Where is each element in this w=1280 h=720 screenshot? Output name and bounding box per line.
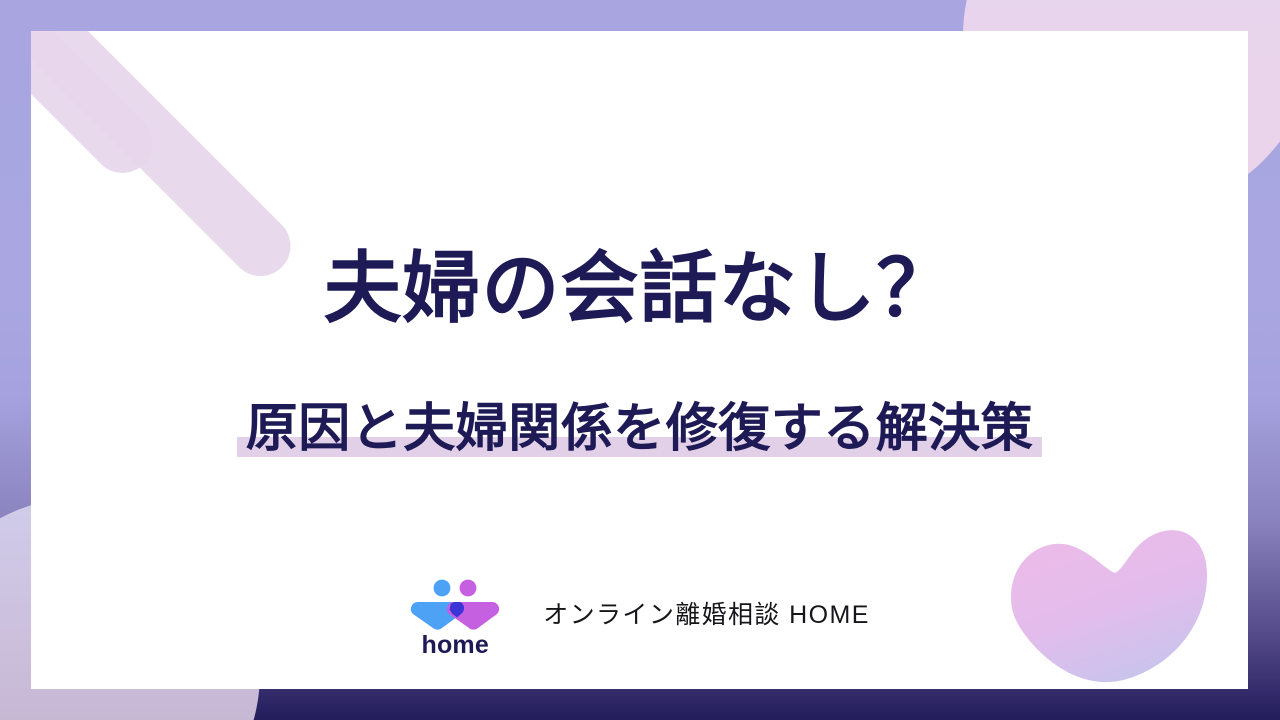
page-subtitle: 原因と夫婦関係を修復する解決策 xyxy=(246,400,1034,458)
content-card: 夫婦の会話なし？ 原因と夫婦関係を修復する解決策 xyxy=(31,31,1248,689)
subtitle-row: 原因と夫婦関係を修復する解決策 xyxy=(31,401,1248,458)
page-title: 夫婦の会話なし？ xyxy=(31,249,1248,327)
home-logo-icon xyxy=(409,579,501,631)
thumbnail-canvas: 夫婦の会話なし？ 原因と夫婦関係を修復する解決策 xyxy=(0,0,1280,720)
brand-row: home オンライン離婚相談 HOME xyxy=(31,579,1248,658)
home-logo-wordmark: home xyxy=(421,633,488,658)
brand-tagline: オンライン離婚相談 HOME xyxy=(543,595,870,631)
home-logo: home xyxy=(409,579,501,658)
